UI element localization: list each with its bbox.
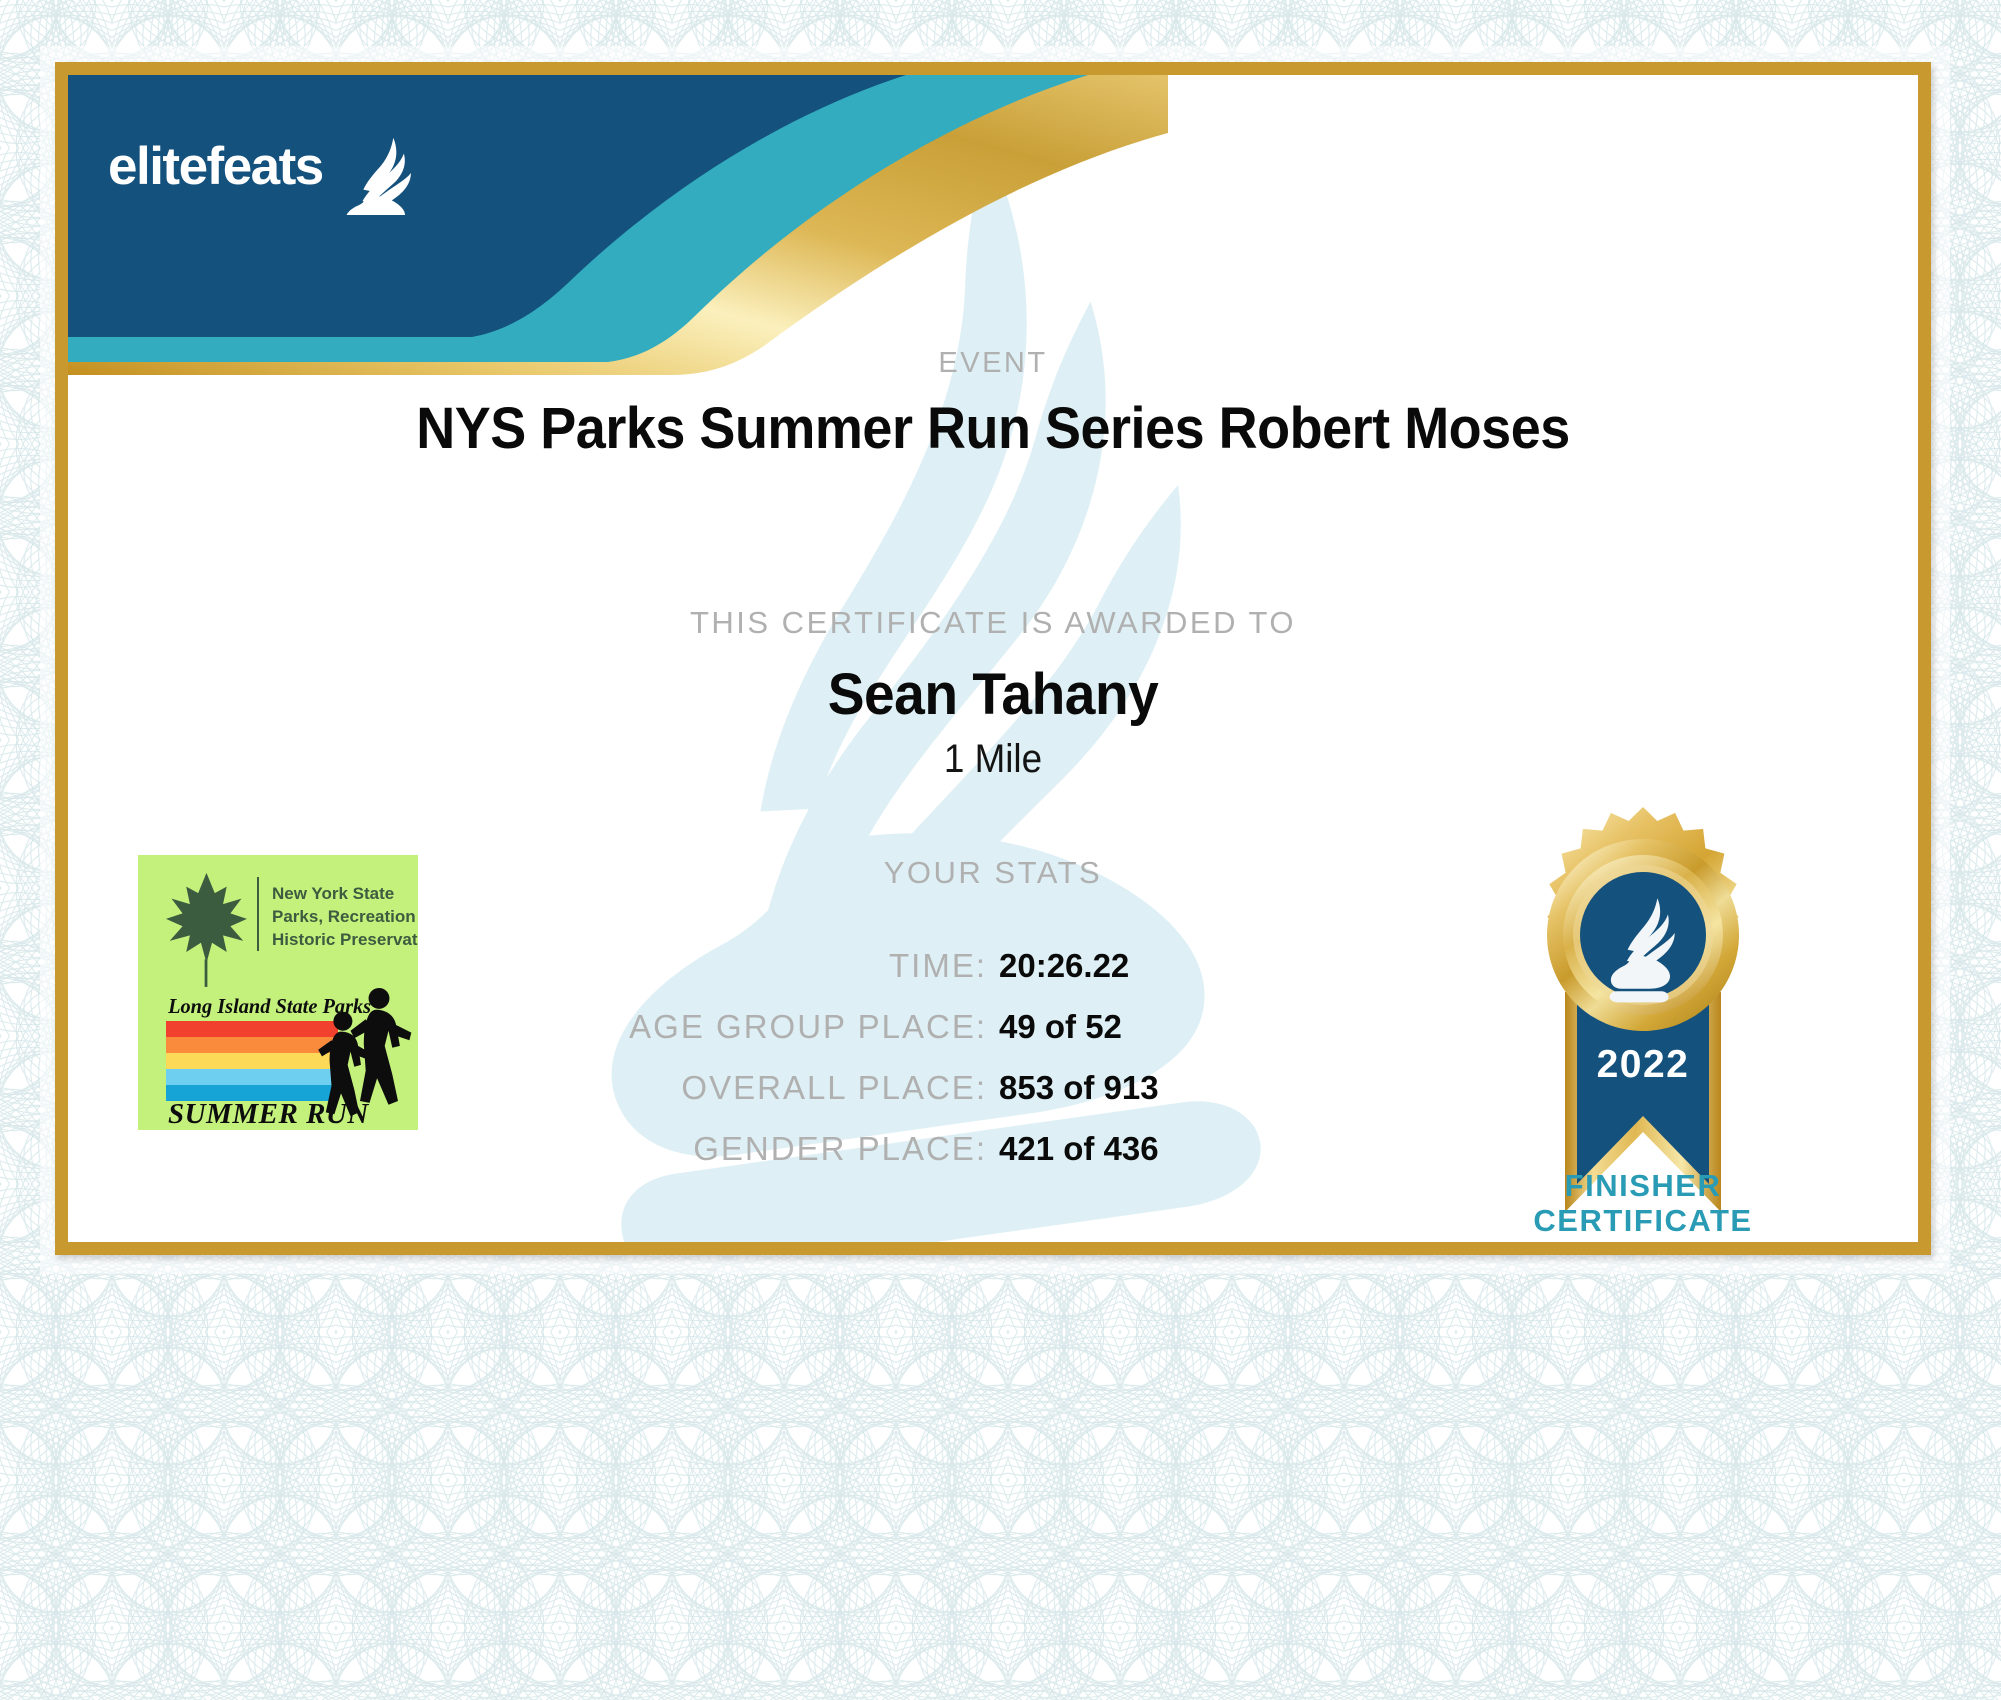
race-distance: 1 Mile (142, 737, 1844, 782)
certificate-page: elitefeats EVENT NYS Parks Summer Run Se… (0, 0, 2001, 1700)
certificate-frame: elitefeats EVENT NYS Parks Summer Run Se… (55, 62, 1931, 1255)
header-banner (68, 75, 1168, 375)
stat-key: AGE GROUP PLACE: (587, 1008, 987, 1046)
stat-key: OVERALL PLACE: (587, 1069, 987, 1107)
brand-logo: elitefeats (108, 130, 428, 215)
agency-line-2: Parks, Recreation and (272, 907, 418, 926)
stat-value: 20:26.22 (987, 947, 1399, 985)
finisher-certificate-caption: FINISHER CERTIFICATE (1493, 1168, 1793, 1238)
finisher-line-1: FINISHER (1493, 1168, 1793, 1203)
agency-line-3: Historic Preservation (272, 930, 418, 949)
stat-value: 49 of 52 (987, 1008, 1399, 1046)
awarded-to-label: THIS CERTIFICATE IS AWARDED TO (68, 605, 1918, 641)
series-name: SUMMER RUN (168, 1098, 369, 1130)
certificate-body: elitefeats EVENT NYS Parks Summer Run Se… (68, 75, 1918, 1242)
stat-value: 853 of 913 (987, 1069, 1399, 1107)
medal-year: 2022 (1597, 1043, 1690, 1086)
medal-disc (1547, 807, 1739, 1031)
stat-key: GENDER PLACE: (587, 1130, 987, 1168)
brand-name-text: elitefeats (108, 137, 323, 196)
elitefeats-wordmark: elitefeats (108, 130, 428, 215)
winged-foot-icon (345, 138, 411, 215)
event-title: NYS Parks Summer Run Series Robert Moses (133, 395, 1854, 462)
recipient-name: Sean Tahany (114, 661, 1872, 728)
stat-key: TIME: (587, 947, 987, 985)
summer-run-sponsor-badge: New York State Parks, Recreation and His… (138, 855, 418, 1130)
event-label: EVENT (68, 347, 1918, 380)
rainbow-stripes (166, 1021, 338, 1101)
stat-value: 421 of 436 (987, 1130, 1399, 1168)
agency-line-1: New York State (272, 884, 394, 903)
finisher-line-2: CERTIFICATE (1493, 1203, 1793, 1238)
